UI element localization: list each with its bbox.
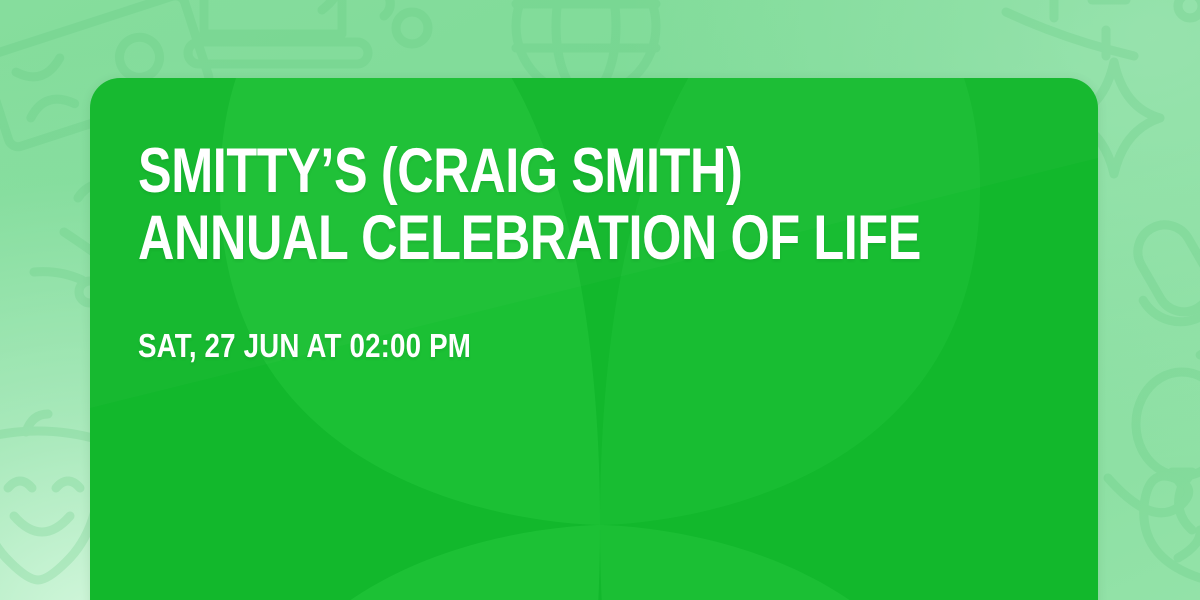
event-title-line-2: ANNUAL CELEBRATION OF LIFE (138, 205, 868, 272)
microphone-icon (1114, 207, 1200, 366)
ring-icon (396, 12, 428, 44)
card-content: SMITTY’S (CRAIG SMITH) ANNUAL CELEBRATIO… (138, 138, 1050, 365)
event-card[interactable]: SMITTY’S (CRAIG SMITH) ANNUAL CELEBRATIO… (90, 78, 1098, 600)
petal-lower-right (600, 525, 980, 600)
event-title: SMITTY’S (CRAIG SMITH) ANNUAL CELEBRATIO… (138, 138, 868, 273)
petal-lower-left (220, 525, 600, 600)
event-title-line-1: SMITTY’S (CRAIG SMITH) (138, 138, 868, 205)
dot-icon (1178, 0, 1200, 18)
event-page: SMITTY’S (CRAIG SMITH) ANNUAL CELEBRATIO… (0, 0, 1200, 600)
event-datetime: SAT, 27 JUN AT 02:00 PM (138, 327, 904, 365)
laptop-icon (188, 0, 368, 64)
spark-mark-icon (384, 0, 390, 16)
confetti-lines-icon (1006, 0, 1134, 56)
